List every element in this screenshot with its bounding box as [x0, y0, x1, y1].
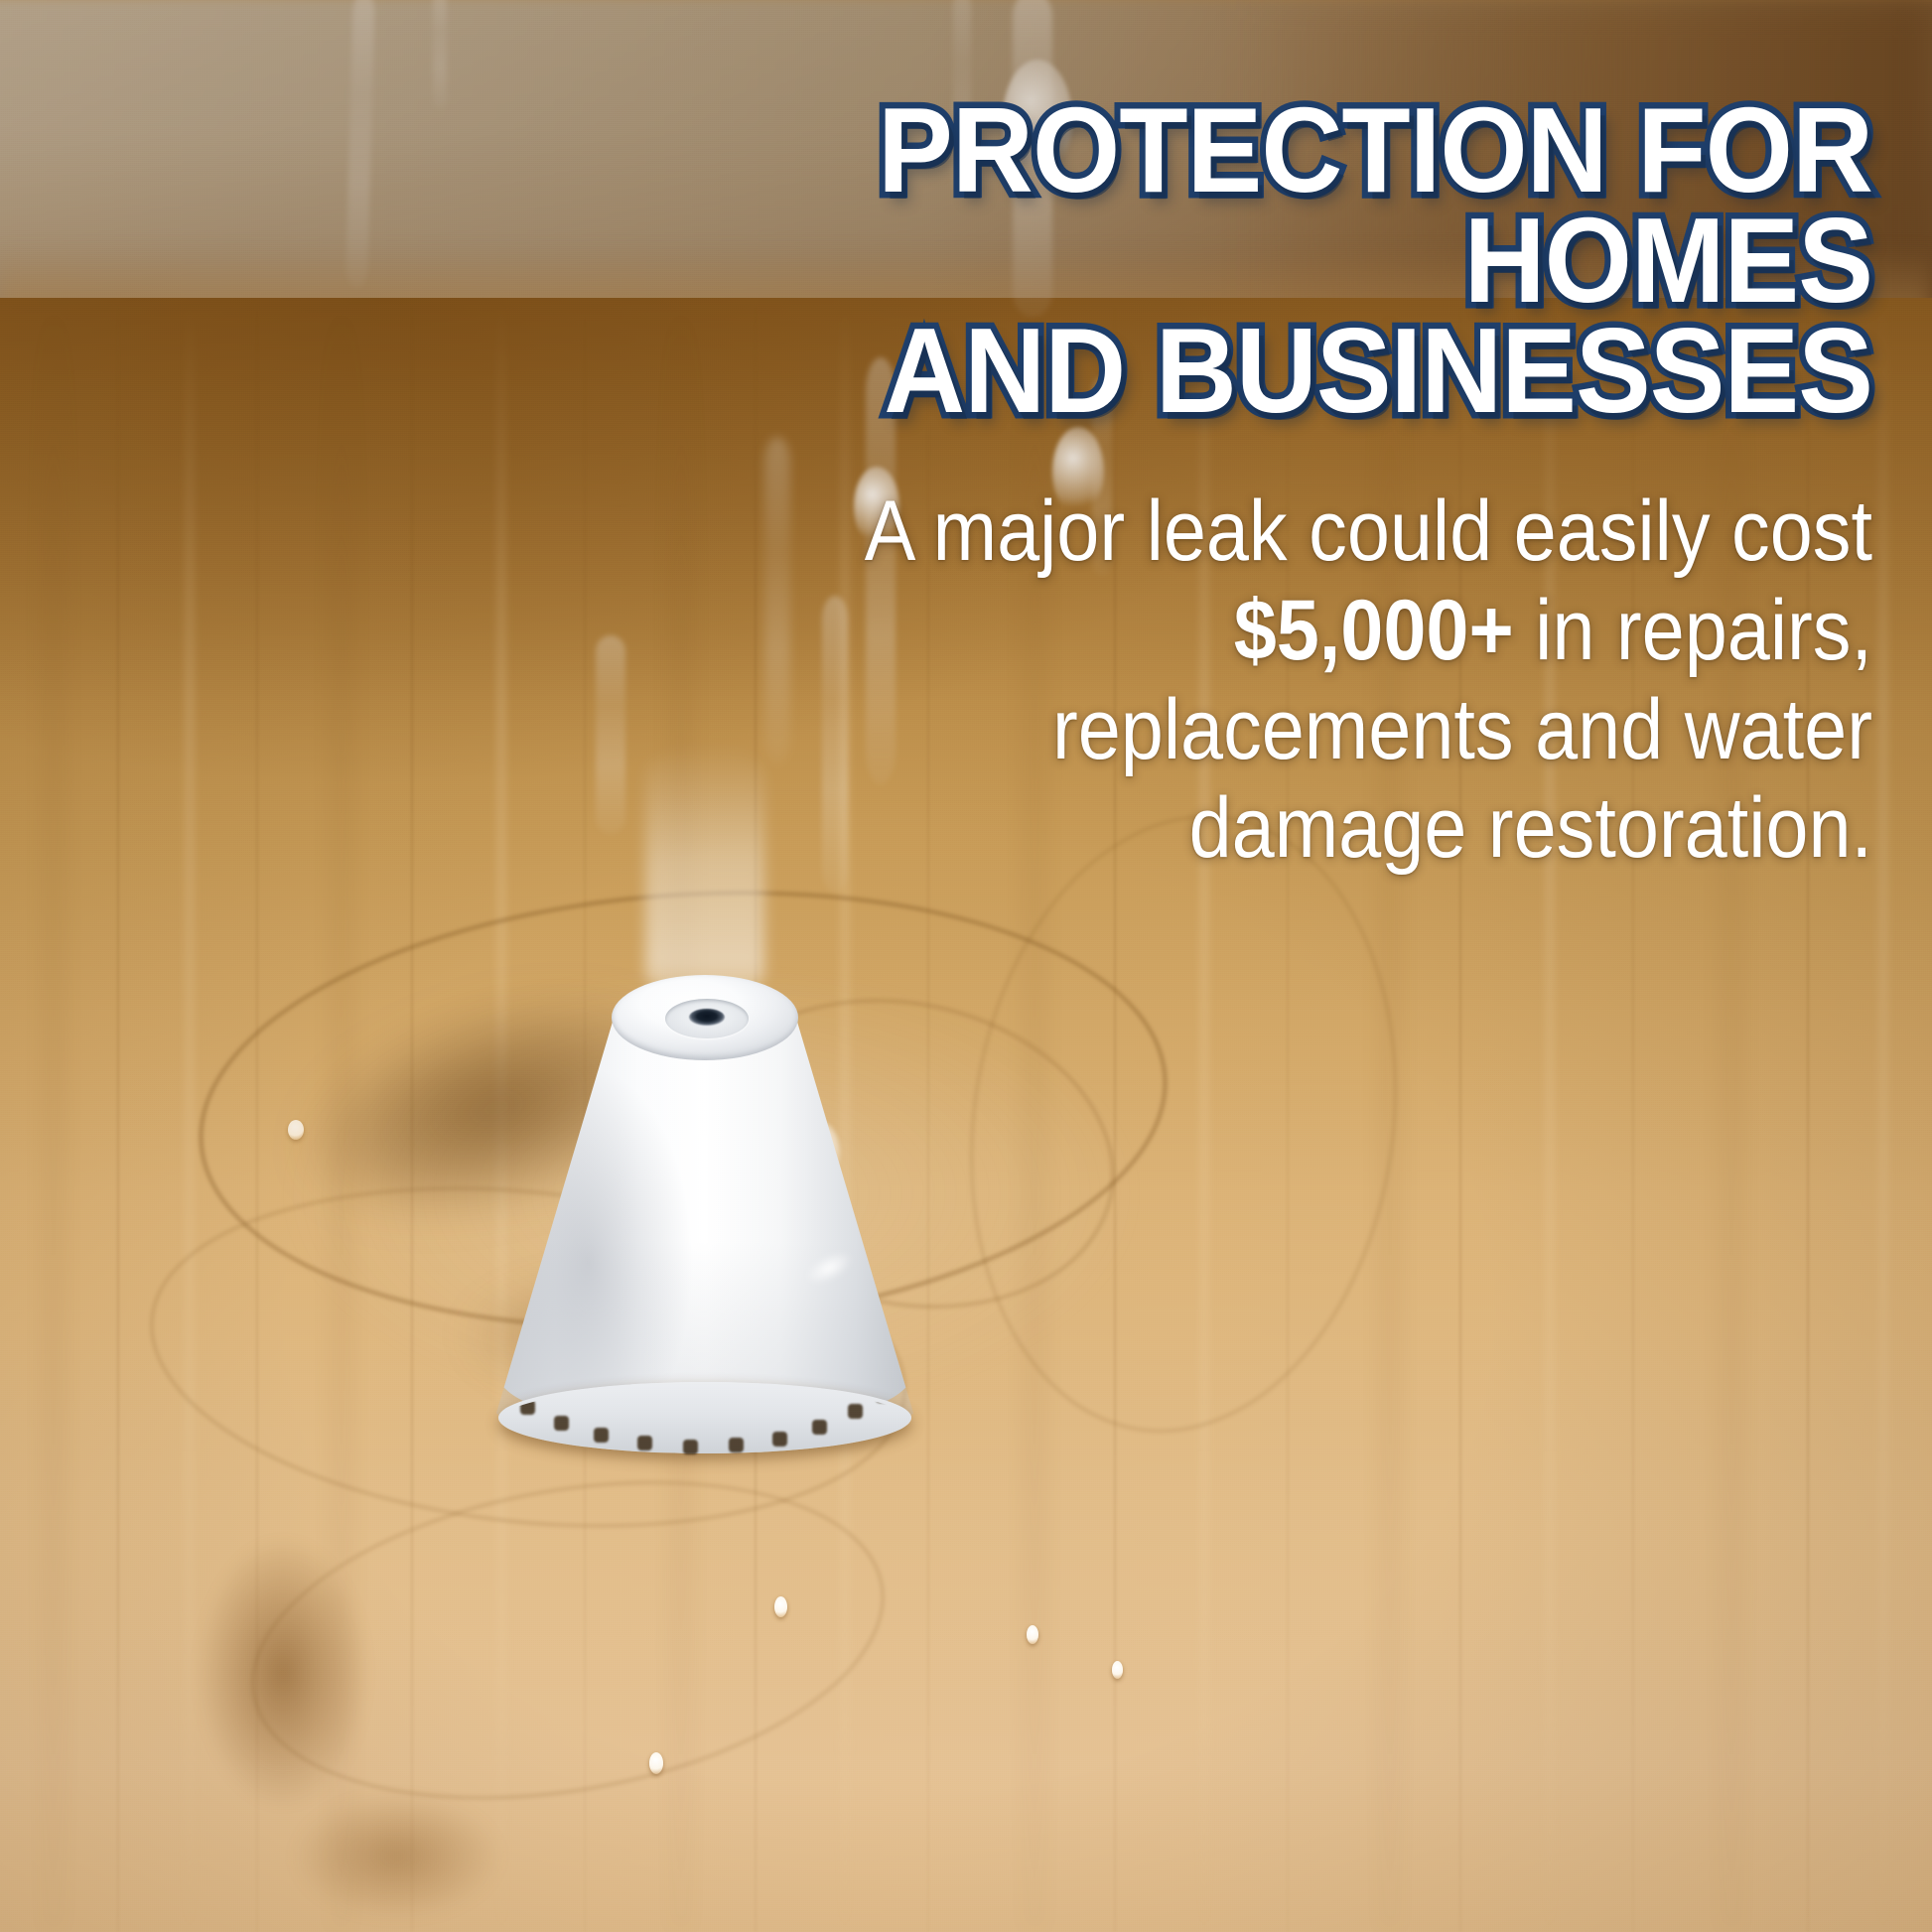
page-title: PROTECTION FOR HOMES AND BUSINESSES	[451, 95, 1872, 426]
headline-line-2: AND BUSINESSES	[451, 316, 1872, 426]
text-overlay: PROTECTION FOR HOMES AND BUSINESSES A ma…	[0, 0, 1932, 1932]
subheadline-part-1: A major leak could easily cost	[865, 483, 1872, 579]
subheadline: A major leak could easily cost $5,000+ i…	[773, 483, 1872, 879]
promo-graphic: PROTECTION FOR HOMES AND BUSINESSES A ma…	[0, 0, 1932, 1932]
cost-highlight: $5,000+	[1234, 583, 1514, 678]
headline-line-1: PROTECTION FOR HOMES	[451, 95, 1872, 316]
